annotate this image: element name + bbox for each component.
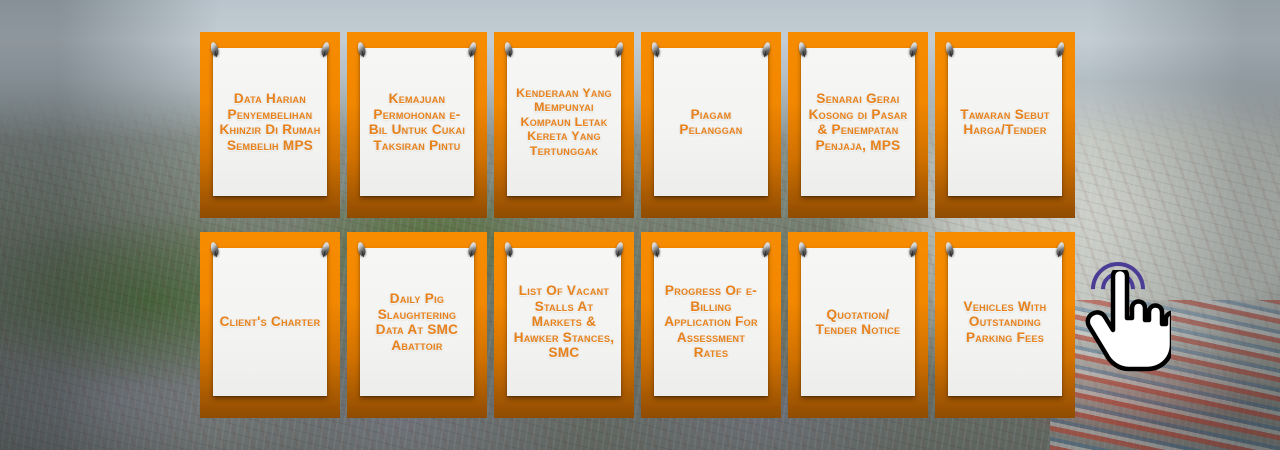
pushpin-right-icon: [614, 241, 624, 256]
card-title: Daily Pig Slaughtering Data At SMC Abatt…: [365, 291, 469, 353]
card-title: Piagam Pelanggan: [659, 107, 763, 138]
card-title: Kenderaan Yang Mempunyai Kompaun Letak K…: [512, 86, 616, 159]
card-row-english: Client's Charter Daily Pig Slaughtering …: [200, 232, 1080, 418]
card-paper: Vehicles With Outstanding Parking Fees: [948, 248, 1062, 396]
pushpin-left-icon: [356, 241, 366, 256]
pushpin-left-icon: [797, 41, 807, 56]
card-row-malay: Data Harian Penyembelihan Khinzir Di Rum…: [200, 32, 1080, 218]
pushpin-left-icon: [356, 41, 366, 56]
pushpin-right-icon: [467, 241, 477, 256]
pushpin-left-icon: [797, 241, 807, 256]
card-title: Data Harian Penyembelihan Khinzir Di Rum…: [218, 91, 322, 153]
card-paper: Piagam Pelanggan: [654, 48, 768, 196]
service-card-piagam-pelanggan[interactable]: Piagam Pelanggan: [641, 32, 781, 218]
pushpin-left-icon: [944, 241, 954, 256]
card-title: Vehicles With Outstanding Parking Fees: [953, 299, 1057, 346]
service-card-senarai-gerai-kosong[interactable]: Senarai Gerai Kosong di Pasar & Penempat…: [788, 32, 928, 218]
card-paper: Kenderaan Yang Mempunyai Kompaun Letak K…: [507, 48, 621, 196]
pushpin-left-icon: [503, 241, 513, 256]
card-title: Quotation/ Tender Notice: [806, 307, 910, 338]
card-paper: Daily Pig Slaughtering Data At SMC Abatt…: [360, 248, 474, 396]
pushpin-right-icon: [761, 241, 771, 256]
pushpin-right-icon: [467, 41, 477, 56]
pushpin-right-icon: [320, 41, 330, 56]
service-card-progress-e-billing[interactable]: Progress Of e-Billing Application For As…: [641, 232, 781, 418]
pushpin-right-icon: [1055, 41, 1065, 56]
pushpin-left-icon: [209, 241, 219, 256]
service-card-daily-pig-slaughtering[interactable]: Daily Pig Slaughtering Data At SMC Abatt…: [347, 232, 487, 418]
pushpin-right-icon: [908, 241, 918, 256]
pushpin-right-icon: [761, 41, 771, 56]
pushpin-left-icon: [503, 41, 513, 56]
service-card-kemajuan-e-bil[interactable]: Kemajuan Permohonan e-Bil Untuk Cukai Ta…: [347, 32, 487, 218]
service-card-tawaran-sebut-harga[interactable]: Tawaran Sebut Harga/Tender: [935, 32, 1075, 218]
pushpin-left-icon: [944, 41, 954, 56]
pushpin-left-icon: [650, 241, 660, 256]
card-title: Progress Of e-Billing Application For As…: [659, 283, 763, 361]
card-paper: Tawaran Sebut Harga/Tender: [948, 48, 1062, 196]
card-paper: Data Harian Penyembelihan Khinzir Di Rum…: [213, 48, 327, 196]
service-card-quotation-tender-notice[interactable]: Quotation/ Tender Notice: [788, 232, 928, 418]
card-paper: Kemajuan Permohonan e-Bil Untuk Cukai Ta…: [360, 48, 474, 196]
pushpin-right-icon: [1055, 241, 1065, 256]
card-title: List Of Vacant Stalls At Markets & Hawke…: [512, 283, 616, 361]
service-card-data-harian-penyembelihan[interactable]: Data Harian Penyembelihan Khinzir Di Rum…: [200, 32, 340, 218]
pushpin-left-icon: [650, 41, 660, 56]
card-paper: Senarai Gerai Kosong di Pasar & Penempat…: [801, 48, 915, 196]
card-paper: Client's Charter: [213, 248, 327, 396]
card-title: Senarai Gerai Kosong di Pasar & Penempat…: [806, 91, 910, 153]
service-card-vehicles-outstanding-parking[interactable]: Vehicles With Outstanding Parking Fees: [935, 232, 1075, 418]
pushpin-left-icon: [209, 41, 219, 56]
card-title: Tawaran Sebut Harga/Tender: [953, 107, 1057, 138]
card-paper: List Of Vacant Stalls At Markets & Hawke…: [507, 248, 621, 396]
pushpin-right-icon: [908, 41, 918, 56]
card-paper: Quotation/ Tender Notice: [801, 248, 915, 396]
service-card-kompaun-letak-kereta[interactable]: Kenderaan Yang Mempunyai Kompaun Letak K…: [494, 32, 634, 218]
service-card-clients-charter[interactable]: Client's Charter: [200, 232, 340, 418]
service-card-list-vacant-stalls[interactable]: List Of Vacant Stalls At Markets & Hawke…: [494, 232, 634, 418]
pushpin-right-icon: [320, 241, 330, 256]
card-paper: Progress Of e-Billing Application For As…: [654, 248, 768, 396]
pushpin-right-icon: [614, 41, 624, 56]
page-stage: Data Harian Penyembelihan Khinzir Di Rum…: [0, 0, 1280, 450]
card-title: Client's Charter: [218, 314, 322, 330]
card-title: Kemajuan Permohonan e-Bil Untuk Cukai Ta…: [365, 91, 469, 153]
service-card-grid: Data Harian Penyembelihan Khinzir Di Rum…: [200, 32, 1080, 418]
